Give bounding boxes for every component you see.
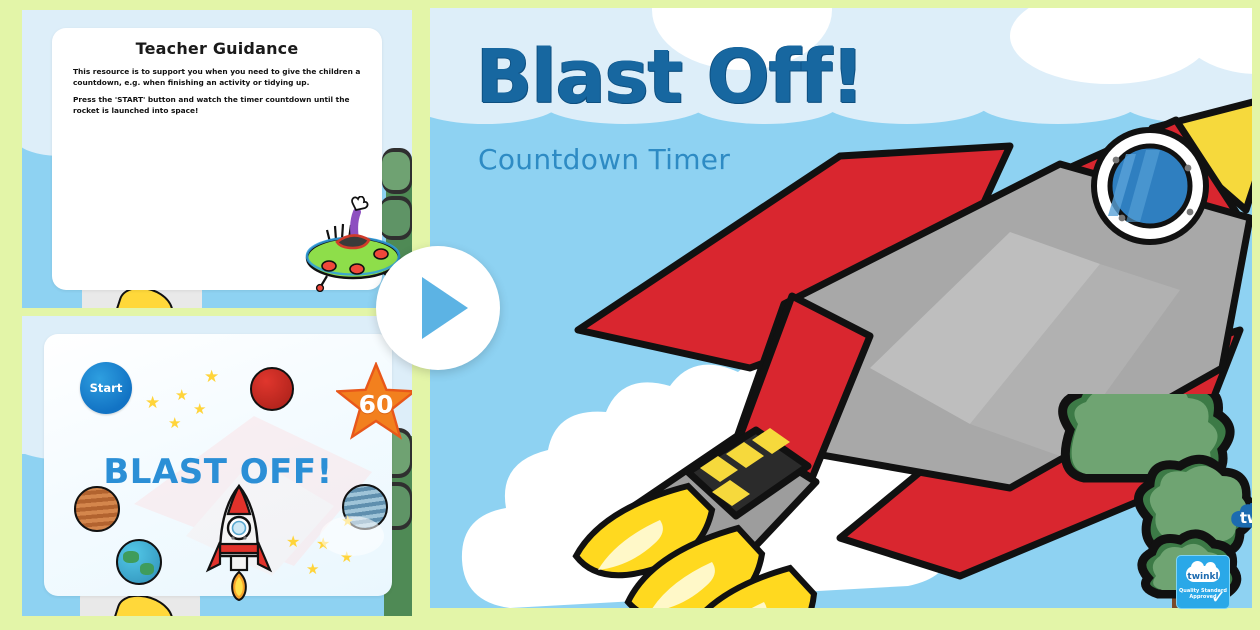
planet-red-icon xyxy=(250,367,294,411)
cloud-puff xyxy=(320,516,384,556)
twinkl-logo-text: twinkl xyxy=(1240,509,1252,527)
timer-slide-card: Start 60 ★ ★ ★ ★ ★ ★ ★ xyxy=(44,334,392,596)
star-icon: ★ xyxy=(204,367,219,387)
thumbnail-blast-off-timer[interactable]: Start 60 ★ ★ ★ ★ ★ ★ ★ xyxy=(22,316,412,616)
planet-earth-icon xyxy=(116,539,162,585)
page-title: Blast Off! xyxy=(476,40,864,114)
play-triangle-icon xyxy=(422,277,468,339)
planet-jupiter-icon xyxy=(74,486,120,532)
tree-canopy xyxy=(382,152,410,190)
star-icon: ★ xyxy=(145,393,160,413)
star-icon: ★ xyxy=(175,386,188,404)
page-title: Teacher Guidance xyxy=(52,39,382,58)
star-icon: ★ xyxy=(168,414,181,432)
screen-background: Teacher Guidance This resource is to sup… xyxy=(0,0,1260,630)
guidance-paragraph-2: Press the 'START' button and watch the t… xyxy=(73,95,364,116)
twinkl-logo: twinkl xyxy=(1228,503,1252,533)
main-preview-slide[interactable]: Blast Off! Countdown Timer xyxy=(430,8,1252,622)
star-icon: ★ xyxy=(306,560,319,578)
star-icon: ★ xyxy=(286,532,300,551)
quality-standard-approved-badge: twinkl Quality Standard Approved ✓ xyxy=(1176,555,1230,609)
start-button[interactable]: Start xyxy=(80,362,132,414)
star-icon: ★ xyxy=(193,400,206,418)
page-subtitle: Countdown Timer xyxy=(478,143,730,176)
thumbnail-teacher-guidance[interactable]: Teacher Guidance This resource is to sup… xyxy=(22,10,412,308)
guidance-card: Teacher Guidance This resource is to sup… xyxy=(52,28,382,290)
guidance-paragraph-1: This resource is to support you when you… xyxy=(73,67,364,88)
badge-logo-text: twinkl xyxy=(1187,572,1218,582)
start-button-label: Start xyxy=(90,381,123,395)
rocket-icon xyxy=(204,482,274,602)
play-button[interactable] xyxy=(376,246,500,370)
check-icon: ✓ xyxy=(1211,587,1226,608)
bottom-green-strip xyxy=(430,608,1252,622)
timer-star-badge: 60 xyxy=(336,362,412,440)
timer-value: 60 xyxy=(336,362,412,440)
